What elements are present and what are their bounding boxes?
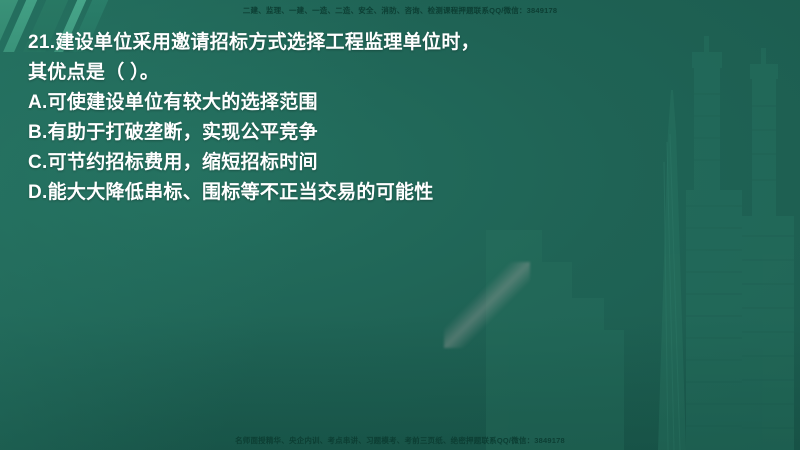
promo-banner-top: 二建、监理、一建、一造、二造、安全、消防、咨询、检测课程押题联系QQ/微信：38… <box>0 5 800 16</box>
option-b[interactable]: B.有助于打破垄断，实现公平竞争 <box>28 118 768 148</box>
promo-banner-bottom: 名师面授精华、央企内训、考点串讲、习题模考、考前三页纸、绝密押题联系QQ/微信：… <box>0 435 800 446</box>
option-c[interactable]: C.可节约招标费用，缩短招标时间 <box>28 148 768 178</box>
slide-canvas: 二建、监理、一建、一造、二造、安全、消防、咨询、检测课程押题联系QQ/微信：38… <box>0 0 800 450</box>
question-stem-line-1: 21.建设单位采用邀请招标方式选择工程监理单位时， <box>28 28 768 58</box>
question-block: 21.建设单位采用邀请招标方式选择工程监理单位时， 其优点是（ ）。 A.可使建… <box>28 28 768 208</box>
question-stem-line-2: 其优点是（ ）。 <box>28 58 768 88</box>
option-a[interactable]: A.可使建设单位有较大的选择范围 <box>28 88 768 118</box>
option-d[interactable]: D.能大大降低串标、围标等不正当交易的可能性 <box>28 178 768 208</box>
